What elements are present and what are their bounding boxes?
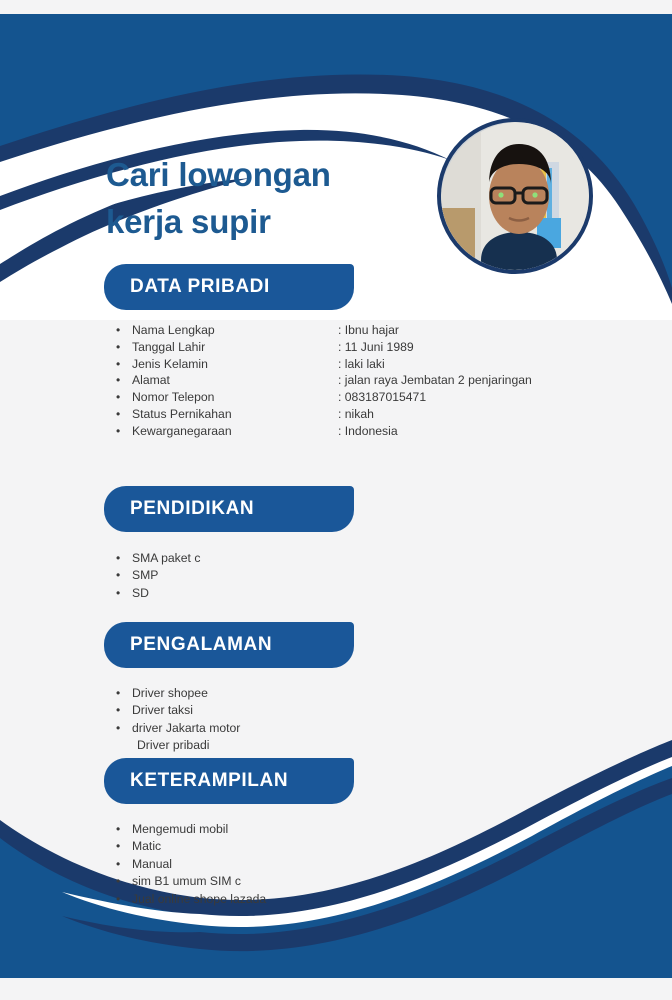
experience-item-continuation: Driver pribadi bbox=[116, 737, 536, 754]
bullet-icon: • bbox=[116, 720, 132, 737]
personal-data-labels: •Nama Lengkap•Tanggal Lahir•Jenis Kelami… bbox=[116, 322, 338, 440]
personal-data-label-text: Kewarganegaraan bbox=[132, 423, 232, 440]
personal-data-value: : Ibnu hajar bbox=[338, 322, 586, 339]
personal-data-label-text: Nomor Telepon bbox=[132, 389, 214, 406]
personal-data-label: •Nomor Telepon bbox=[116, 389, 338, 406]
skill-item: •Mengemudi mobil bbox=[116, 821, 536, 838]
section-header-education-label: PENDIDIKAN bbox=[130, 498, 254, 520]
skill-item: •Manual bbox=[116, 856, 536, 873]
bullet-icon: • bbox=[116, 567, 132, 584]
section-header-experience-label: PENGALAMAN bbox=[130, 634, 272, 656]
bullet-icon: • bbox=[116, 702, 132, 719]
education-item-text: SD bbox=[132, 585, 149, 602]
section-header-skills-label: KETERAMPILAN bbox=[130, 770, 288, 792]
bullet-icon: • bbox=[116, 322, 132, 339]
skill-item-text: Manual bbox=[132, 856, 172, 873]
bottom-grey-strip bbox=[0, 978, 672, 1000]
bullet-icon: • bbox=[116, 891, 132, 908]
skill-item: •sim B1 umum SIM c bbox=[116, 873, 536, 890]
experience-item-text: Driver taksi bbox=[132, 702, 193, 719]
personal-data-label-text: Jenis Kelamin bbox=[132, 356, 208, 373]
personal-data-label: •Kewarganegaraan bbox=[116, 423, 338, 440]
education-item: •SMP bbox=[116, 567, 536, 584]
personal-data-label: •Alamat bbox=[116, 372, 338, 389]
profile-photo bbox=[437, 118, 593, 274]
skills-list: •Mengemudi mobil•Matic•Manual•sim B1 umu… bbox=[116, 821, 536, 908]
cv-page: Cari lowongan kerja supir DATA PRIBADI •… bbox=[0, 0, 672, 1000]
page-title-line2: kerja supir bbox=[106, 199, 436, 246]
bullet-icon: • bbox=[116, 856, 132, 873]
bullet-icon: • bbox=[116, 873, 132, 890]
personal-data-values: : Ibnu hajar: 11 Juni 1989: laki laki: j… bbox=[338, 322, 586, 440]
bullet-icon: • bbox=[116, 550, 132, 567]
personal-data-label-text: Tanggal Lahir bbox=[132, 339, 205, 356]
section-header-personal: DATA PRIBADI bbox=[104, 264, 354, 310]
experience-list: •Driver shopee•Driver taksi•driver Jakar… bbox=[116, 685, 536, 755]
personal-data-value: : 11 Juni 1989 bbox=[338, 339, 586, 356]
personal-data-value: : laki laki bbox=[338, 356, 586, 373]
page-title: Cari lowongan kerja supir bbox=[106, 152, 436, 246]
personal-data-value: : nikah bbox=[338, 406, 586, 423]
personal-data-value: : 083187015471 bbox=[338, 389, 586, 406]
education-item: •SD bbox=[116, 585, 536, 602]
bullet-icon: • bbox=[116, 372, 132, 389]
portrait-illustration bbox=[441, 122, 589, 270]
personal-data-block: •Nama Lengkap•Tanggal Lahir•Jenis Kelami… bbox=[116, 322, 586, 440]
bullet-icon: • bbox=[116, 356, 132, 373]
education-item: •SMA paket c bbox=[116, 550, 536, 567]
profile-photo-image bbox=[441, 122, 589, 270]
skill-item-text: Jual online shope lazada bbox=[132, 891, 266, 908]
personal-data-label-text: Alamat bbox=[132, 372, 170, 389]
bullet-icon: • bbox=[116, 423, 132, 440]
section-header-skills: KETERAMPILAN bbox=[104, 758, 354, 804]
skill-item-text: Matic bbox=[132, 838, 161, 855]
personal-data-label: •Status Pernikahan bbox=[116, 406, 338, 423]
personal-data-value: : jalan raya Jembatan 2 penjaringan bbox=[338, 372, 586, 389]
bullet-icon: • bbox=[116, 389, 132, 406]
bullet-icon: • bbox=[116, 838, 132, 855]
experience-item: •driver Jakarta motor bbox=[116, 720, 536, 737]
top-grey-strip bbox=[0, 0, 672, 14]
section-header-experience: PENGALAMAN bbox=[104, 622, 354, 668]
experience-item-text: driver Jakarta motor bbox=[132, 720, 240, 737]
education-item-text: SMA paket c bbox=[132, 550, 200, 567]
section-header-personal-label: DATA PRIBADI bbox=[130, 276, 270, 298]
experience-item: •Driver shopee bbox=[116, 685, 536, 702]
page-title-line1: Cari lowongan bbox=[106, 156, 331, 193]
skill-item: •Jual online shope lazada bbox=[116, 891, 536, 908]
personal-data-label: •Jenis Kelamin bbox=[116, 356, 338, 373]
bullet-icon: • bbox=[116, 406, 132, 423]
experience-item: •Driver taksi bbox=[116, 702, 536, 719]
personal-data-label-text: Status Pernikahan bbox=[132, 406, 232, 423]
personal-data-label-text: Nama Lengkap bbox=[132, 322, 215, 339]
section-header-education: PENDIDIKAN bbox=[104, 486, 354, 532]
bullet-icon: • bbox=[116, 821, 132, 838]
bullet-icon: • bbox=[116, 585, 132, 602]
skill-item-text: sim B1 umum SIM c bbox=[132, 873, 241, 890]
personal-data-label: •Tanggal Lahir bbox=[116, 339, 338, 356]
education-item-text: SMP bbox=[132, 567, 158, 584]
skill-item: •Matic bbox=[116, 838, 536, 855]
personal-data-value: : Indonesia bbox=[338, 423, 586, 440]
skill-item-text: Mengemudi mobil bbox=[132, 821, 228, 838]
bullet-icon: • bbox=[116, 339, 132, 356]
bullet-icon: • bbox=[116, 685, 132, 702]
education-list: •SMA paket c•SMP•SD bbox=[116, 550, 536, 602]
experience-item-text: Driver shopee bbox=[132, 685, 208, 702]
personal-data-label: •Nama Lengkap bbox=[116, 322, 338, 339]
